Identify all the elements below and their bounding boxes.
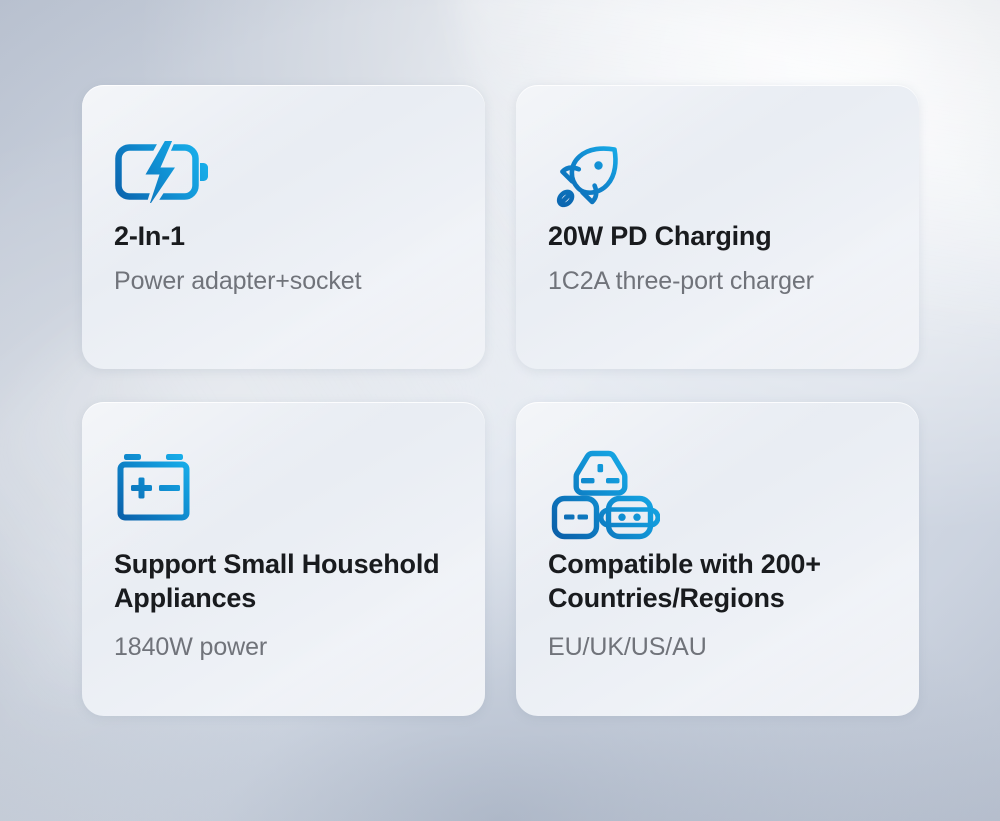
card-title: 2-In-1: [114, 219, 485, 253]
card-title: Support Small Household Appliances: [114, 547, 485, 615]
feature-card-household-appliances: Support Small Household Appliances 1840W…: [82, 402, 485, 716]
car-battery-icon: [114, 447, 485, 543]
charging-battery-icon: [114, 141, 485, 215]
feature-card-country-compatibility: Compatible with 200+ Countries/Regions E…: [516, 402, 919, 716]
rocket-icon: [548, 141, 919, 215]
card-subtitle: 1C2A three-port charger: [548, 265, 919, 298]
card-subtitle: 1840W power: [114, 631, 485, 664]
feature-card-20w-pd-charging: 20W PD Charging 1C2A three-port charger: [516, 85, 919, 369]
card-subtitle: EU/UK/US/AU: [548, 631, 919, 664]
power-sockets-icon: [548, 447, 919, 543]
card-subtitle: Power adapter+socket: [114, 265, 485, 298]
feature-card-2-in-1: 2-In-1 Power adapter+socket: [82, 85, 485, 369]
card-title: Compatible with 200+ Countries/Regions: [548, 547, 919, 615]
card-title: 20W PD Charging: [548, 219, 919, 253]
feature-grid: 2-In-1 Power adapter+socket: [82, 85, 919, 716]
